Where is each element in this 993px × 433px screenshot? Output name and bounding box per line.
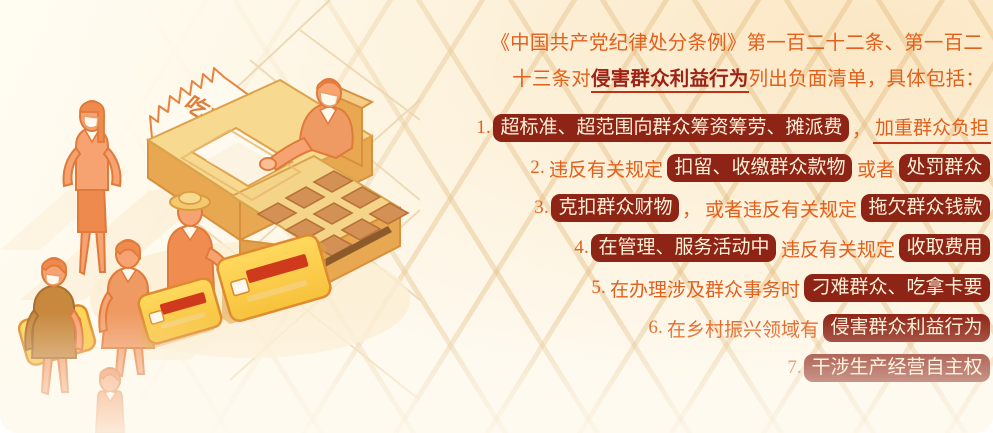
face-mask-icon bbox=[46, 274, 60, 285]
plain-phrase: 或者违反有关规定 bbox=[702, 195, 860, 222]
list-item: 5.在办理涉及群众事务时刁难群众、吃拿卡要 bbox=[400, 268, 993, 308]
list-item-number: 5. bbox=[591, 277, 606, 299]
intro-line2-prefix: 十三条对 bbox=[512, 69, 591, 90]
plain-phrase: 在办理涉及群众事务时 bbox=[607, 275, 803, 302]
violation-pill: 刁难群众、吃拿卡要 bbox=[804, 274, 989, 302]
violation-pill: 扣留、收缴群众款物 bbox=[667, 154, 852, 182]
punctuation: ， bbox=[681, 195, 702, 222]
intro-line2-suffix: 列出负面清单，具体包括： bbox=[749, 69, 985, 90]
violation-pill: 处罚群众 bbox=[899, 154, 989, 182]
plain-phrase: 违反有关规定 bbox=[778, 235, 898, 262]
plain-phrase: 或者 bbox=[854, 155, 898, 182]
list-item: 1.超标准、超范围向群众筹资筹劳、摊派费，加重群众负担 bbox=[400, 108, 993, 148]
list-item: 3.克扣群众财物，或者违反有关规定拖欠群众钱款 bbox=[400, 188, 993, 228]
intro-line-2: 十三条对侵害群众利益行为列出负面清单，具体包括： bbox=[400, 62, 993, 98]
punctuation: ， bbox=[851, 115, 872, 142]
violation-pill: 拖欠群众钱款 bbox=[861, 194, 989, 222]
list-item-number: 1. bbox=[476, 117, 491, 139]
violation-pill: 超标准、超范围向群众筹资筹劳、摊派费 bbox=[493, 114, 849, 142]
violation-pill: 克扣群众财物 bbox=[551, 194, 679, 222]
poster-canvas: 吃拿卡要 bbox=[0, 0, 993, 433]
plain-phrase: 违反有关规定 bbox=[546, 155, 666, 182]
underlined-phrase: 加重群众负担 bbox=[873, 113, 991, 144]
list-item: 2.违反有关规定扣留、收缴群众款物或者处罚群众 bbox=[400, 148, 993, 188]
violation-pill: 收取费用 bbox=[899, 234, 989, 262]
list-item-number: 4. bbox=[574, 237, 589, 259]
list-item-number: 3. bbox=[534, 197, 549, 219]
intro-line-1: 《中国共产党纪律处分条例》第一百二十二条、第一百二 bbox=[400, 26, 993, 62]
face-mask-icon bbox=[84, 116, 98, 128]
list-item: 4.在管理、服务活动中违反有关规定收取费用 bbox=[400, 228, 993, 268]
background-bottom-fade bbox=[0, 313, 993, 433]
list-item-number: 2. bbox=[530, 157, 545, 179]
intro-paragraph: 《中国共产党纪律处分条例》第一百二十二条、第一百二 十三条对侵害群众利益行为列出… bbox=[400, 26, 993, 98]
intro-highlight-term: 侵害群众利益行为 bbox=[591, 69, 749, 93]
violation-pill: 在管理、服务活动中 bbox=[591, 234, 776, 262]
